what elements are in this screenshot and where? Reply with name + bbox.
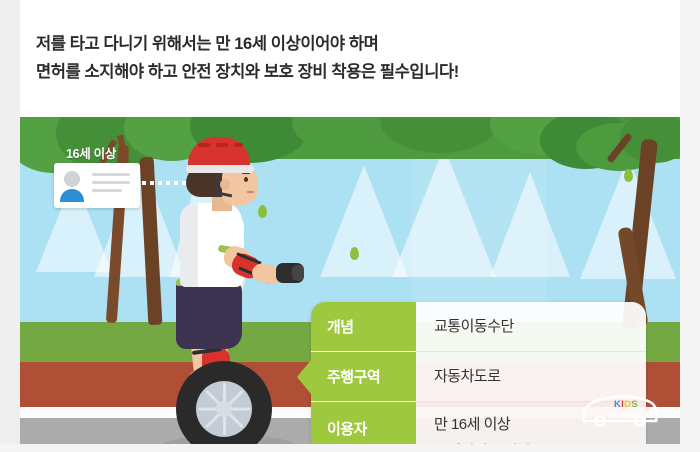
- mountain-icon: [392, 147, 496, 277]
- rider-eye: [244, 177, 248, 182]
- info-row-label: 주행구역: [311, 352, 416, 402]
- id-card-text-line: [92, 173, 130, 176]
- id-card-text-line: [92, 189, 122, 192]
- id-card-avatar-head: [64, 171, 80, 187]
- info-row-label: 이용자: [311, 402, 416, 444]
- header-text-block: 저를 타고 다니기 위해서는 만 16세 이상이어야 하며 면허를 소지해야 하…: [20, 0, 680, 117]
- logo-brand-text: HYUNDAI: [608, 410, 653, 420]
- header-line-2: 면허를 소지해야 하고 안전 장치와 보호 장비 착용은 필수입니다!: [36, 58, 680, 86]
- info-value-line: 교통이동수단: [434, 316, 514, 338]
- kids-hyundai-logo: KIDS HYUNDAI: [578, 390, 662, 430]
- leaf-icon: [624, 169, 633, 182]
- page-root: 저를 타고 다니기 위해서는 만 16세 이상이어야 하며 면허를 소지해야 하…: [0, 0, 700, 452]
- info-row-value: 교통이동수단: [416, 302, 646, 352]
- info-row-concept: 개념 교통이동수단: [311, 302, 646, 352]
- id-card-text-line: [92, 181, 130, 184]
- frame-margin-right: [680, 0, 700, 452]
- info-row-label: 개념: [311, 302, 416, 352]
- logo-kids-text: KIDS: [614, 399, 638, 410]
- wheel-hub: [216, 401, 232, 417]
- id-card-icon: [54, 163, 140, 208]
- mountain-icon: [490, 172, 570, 277]
- glove-knuckle: [292, 265, 304, 281]
- info-value-line: 자동차도로: [434, 366, 501, 388]
- helmet-brim: [186, 165, 254, 173]
- panel-pointer-notch: [297, 360, 311, 394]
- rider-mouth: [247, 191, 254, 193]
- header-line-1: 저를 타고 다니기 위해서는 만 16세 이상이어야 하며: [36, 30, 680, 58]
- logo-letter: S: [631, 399, 638, 410]
- info-value-line: 운전면허 소지자: [434, 441, 531, 445]
- illustration-scene: 16세 이상: [20, 117, 680, 444]
- helmet-vent: [198, 143, 210, 147]
- leaf-icon: [350, 247, 359, 260]
- info-value-line: 만 16세 이상: [434, 414, 510, 436]
- rider-shorts: [176, 281, 242, 349]
- age-badge-label: 16세 이상: [66, 143, 116, 162]
- helmet-vent: [234, 143, 243, 147]
- frame-margin-bottom: [0, 444, 700, 452]
- frame-margin-left: [0, 0, 20, 452]
- id-card-avatar-body: [60, 189, 84, 202]
- helmet-vent: [216, 143, 228, 147]
- rider-torso-shade: [180, 203, 198, 287]
- rider-ear: [220, 179, 230, 190]
